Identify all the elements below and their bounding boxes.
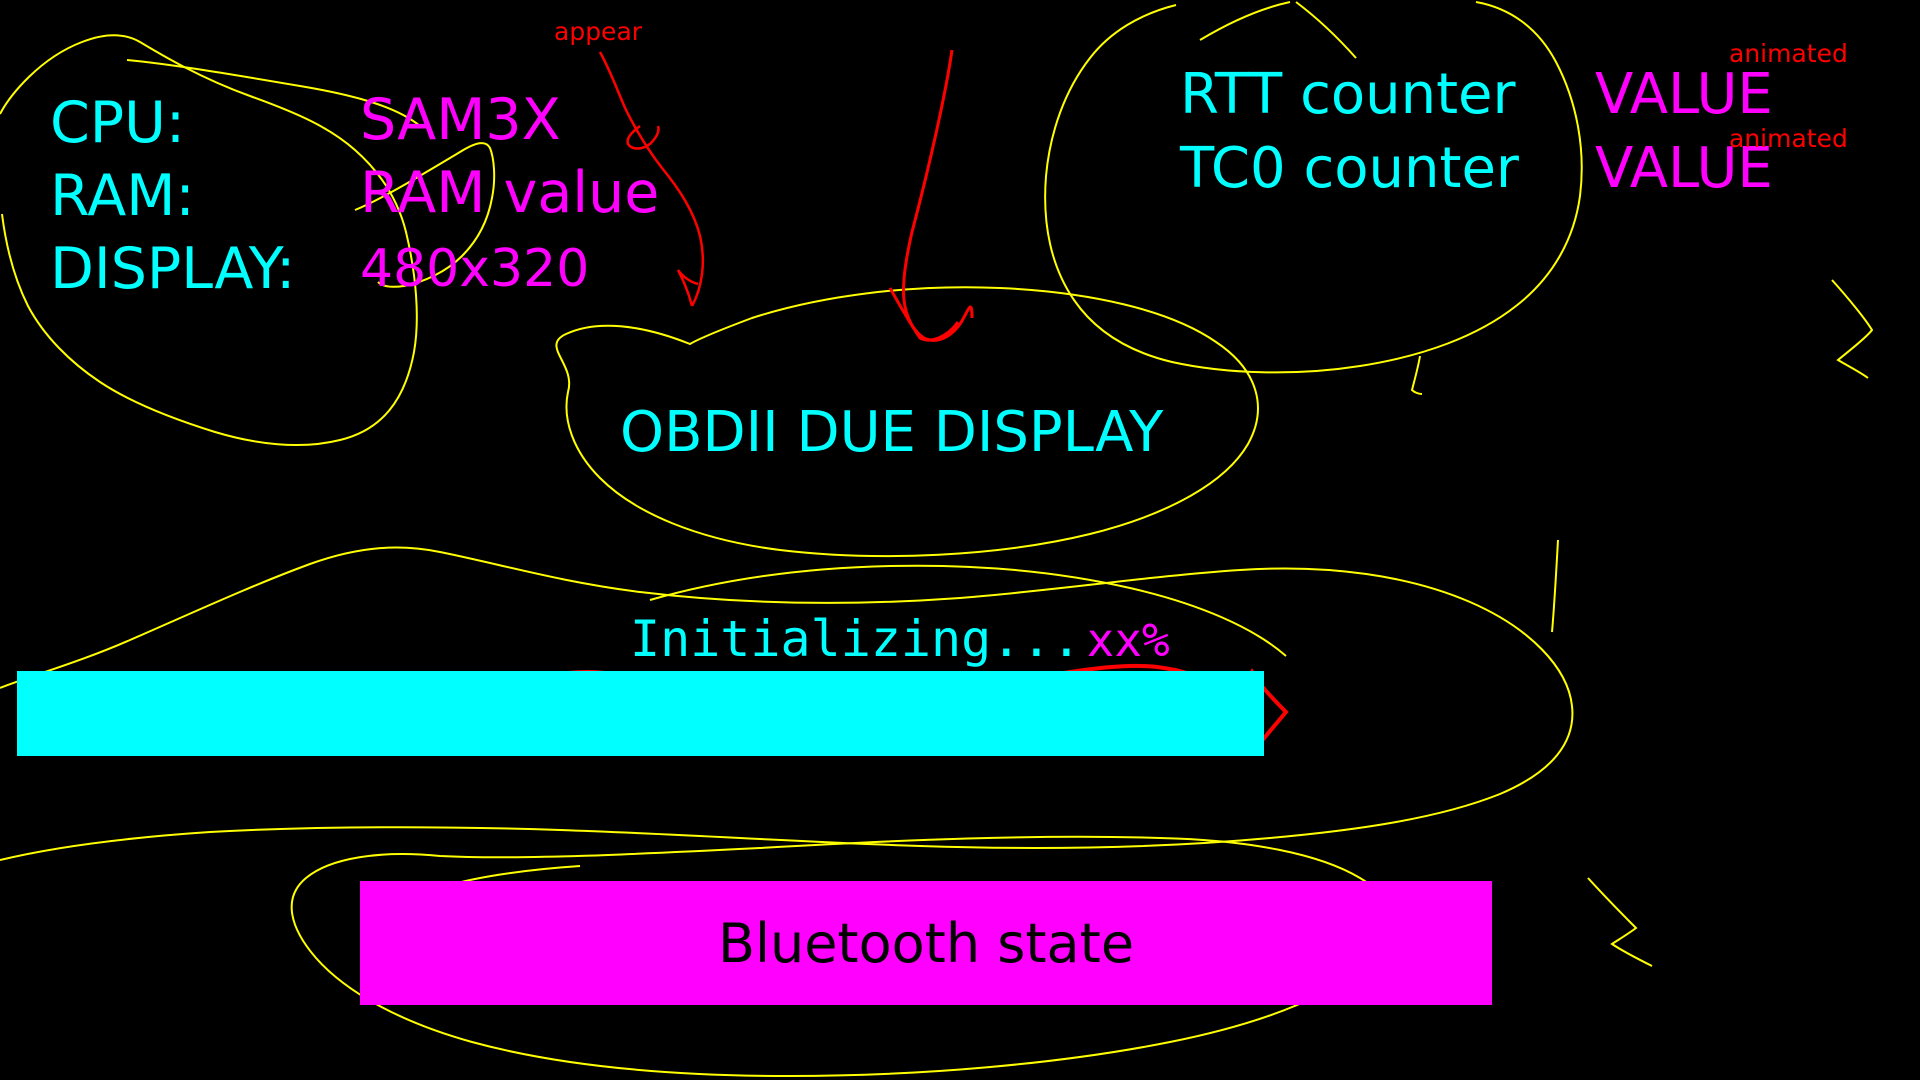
- info-label-ram: RAM:: [50, 168, 195, 225]
- bluetooth-state-label: Bluetooth state: [718, 912, 1134, 975]
- status-percent: xx%: [1087, 613, 1170, 667]
- info-label-display: DISPLAY:: [50, 241, 295, 298]
- info-value-display: 480x320: [360, 243, 589, 295]
- red-arrowhead-title: [890, 288, 958, 340]
- counter-label-tc0: TC0 counter: [1180, 136, 1519, 201]
- bluetooth-state-bar[interactable]: Bluetooth state: [360, 881, 1492, 1005]
- status-message: Initializing...: [630, 610, 1082, 668]
- status-line: Initializing... xx%: [630, 610, 1170, 668]
- display-mockup-canvas: CPU: SAM3X RAM: RAM value DISPLAY: 480x3…: [0, 0, 1920, 1080]
- yellow-stroke-tick-mid-left: [1412, 356, 1422, 394]
- red-arrow-title: [903, 50, 972, 340]
- page-title: OBDII DUE DISPLAY: [620, 400, 1163, 465]
- red-arrowhead-appear-upper: [628, 126, 659, 149]
- annotation-label-appear: appear: [554, 17, 642, 46]
- info-value-cpu: SAM3X: [360, 92, 561, 149]
- counter-value-rtt: VALUE: [1595, 62, 1773, 127]
- progress-bar: [17, 671, 1264, 756]
- yellow-stroke-vertical-mid-right: [1552, 540, 1558, 632]
- info-label-cpu: CPU:: [50, 95, 185, 152]
- yellow-stroke-counter-tick: [1200, 2, 1290, 40]
- info-value-ram: RAM value: [360, 165, 659, 222]
- annotation-label-animated-tc0: animated: [1729, 124, 1848, 153]
- red-arrow-appear-lower: [678, 270, 698, 306]
- annotation-label-animated-rtt: animated: [1729, 39, 1848, 68]
- yellow-stroke-chevron-right-top: [1832, 280, 1872, 378]
- yellow-stroke-chevron-right-bottom: [1588, 878, 1652, 966]
- yellow-stroke-counter-tick2: [1296, 2, 1356, 58]
- counter-label-rtt: RTT counter: [1180, 62, 1516, 127]
